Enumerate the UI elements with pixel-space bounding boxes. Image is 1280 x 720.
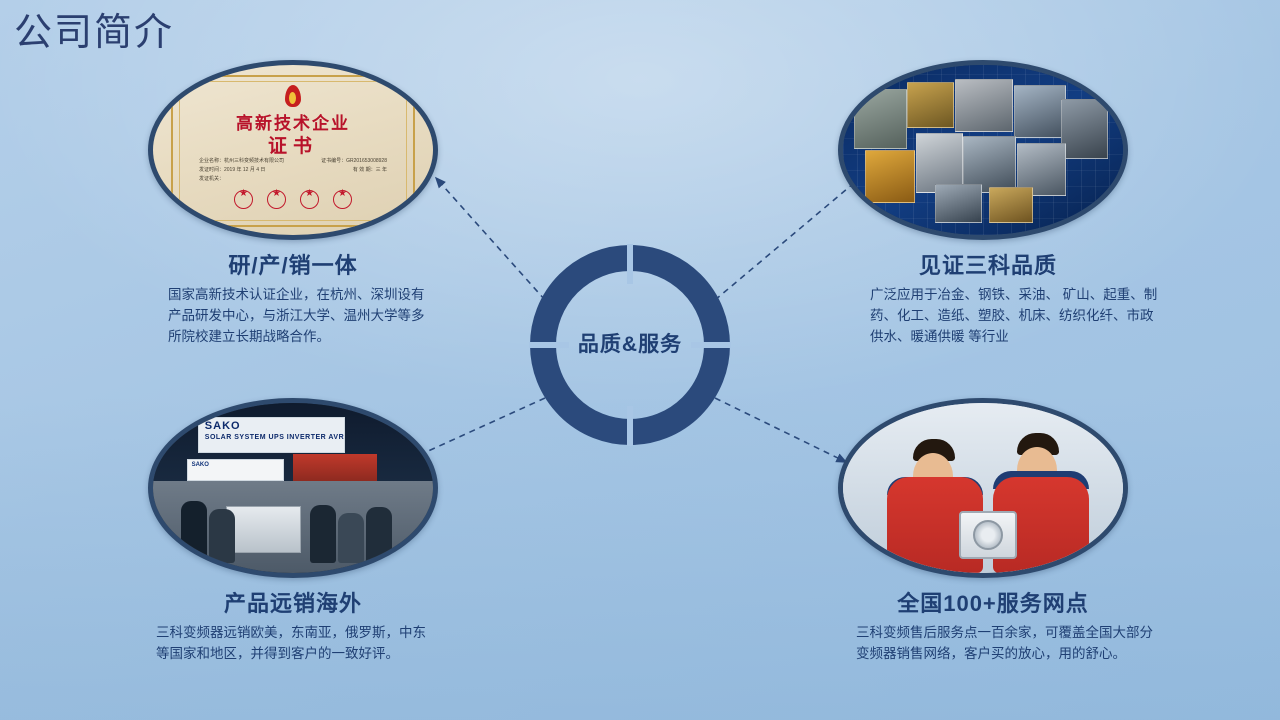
node-bottom-left-desc: 三科变频器远销欧美，东南亚，俄罗斯，中东等国家和地区，并得到客户的一致好评。 [150, 622, 438, 664]
certificate-title-line2: 证书 [153, 131, 433, 158]
node-top-right[interactable]: 见证三科品质 广泛应用于冶金、钢铁、采油、 矿山、起重、制药、化工、造纸、塑胶、… [838, 60, 1138, 347]
seal-icon [300, 190, 319, 209]
booth-banner-secondary-text: SAKO [192, 462, 209, 468]
montage-tile [955, 79, 1013, 132]
booth-banner-line1: SAKO [205, 420, 241, 432]
booth-counter [226, 506, 301, 552]
certificate-field-value-1: 有 效 期：三 年 [353, 166, 387, 175]
flame-icon [285, 85, 301, 107]
visitor-figure [366, 507, 392, 563]
booth-red-panel [293, 454, 377, 481]
seal-icon [333, 190, 352, 209]
montage-tile [989, 187, 1033, 223]
montage-tile [1014, 85, 1066, 138]
certificate-fields: 企业名称：杭州三科变频技术有限公司 证书编号：GR201653008928 发证… [199, 157, 387, 184]
certificate-field-label-0: 企业名称：杭州三科变频技术有限公司 [199, 157, 284, 166]
inverter-device [959, 511, 1017, 559]
certificate-field-value-0: 证书编号：GR201653008928 [321, 157, 387, 166]
certificate-field-label-2: 发证机关： [199, 175, 224, 184]
node-bottom-left-image: SAKO SOLAR SYSTEM UPS INVERTER AVR SAKO [148, 398, 438, 578]
montage-tile [1061, 99, 1108, 159]
visitor-figure [338, 513, 364, 563]
booth-banner-line2: SOLAR SYSTEM UPS INVERTER AVR [205, 434, 344, 441]
montage-tile [935, 184, 982, 223]
visitor-figure [310, 505, 336, 563]
visitor-figure [209, 509, 235, 563]
seal-icon [234, 190, 253, 209]
node-top-right-title: 见证三科品质 [838, 248, 1138, 280]
montage-tile [865, 150, 915, 203]
node-bottom-left-title: 产品远销海外 [148, 586, 438, 618]
node-bottom-right[interactable]: 全国100+服务网点 三科变频售后服务点一百余家，可覆盖全国大部分变频器销售网络… [838, 398, 1148, 664]
node-top-right-image [838, 60, 1128, 240]
node-bottom-right-title: 全国100+服务网点 [838, 586, 1148, 618]
seal-icon [267, 190, 286, 209]
visitor-figure [181, 501, 207, 563]
node-bottom-right-image [838, 398, 1128, 578]
center-donut: 品质&服务 [525, 240, 735, 450]
node-top-left[interactable]: 高新技术企业 证书 企业名称：杭州三科变频技术有限公司 证书编号：GR20165… [148, 60, 438, 347]
node-bottom-right-desc: 三科变频售后服务点一百余家，可覆盖全国大部分变频器销售网络，客户买的放心，用的舒… [844, 622, 1156, 664]
node-top-left-image: 高新技术企业 证书 企业名称：杭州三科变频技术有限公司 证书编号：GR20165… [148, 60, 438, 240]
booth-banner-secondary: SAKO [187, 459, 284, 481]
montage-tile [854, 89, 906, 149]
node-top-left-desc: 国家高新技术认证企业，在杭州、深圳设有产品研发中心，与浙江大学、温州大学等多所院… [162, 284, 430, 347]
expo-booth-photo: SAKO SOLAR SYSTEM UPS INVERTER AVR SAKO [153, 403, 433, 573]
node-top-right-desc: 广泛应用于冶金、钢铁、采油、 矿山、起重、制药、化工、造纸、塑胶、机床、纺织化纤… [858, 284, 1160, 347]
industry-photo-montage [843, 65, 1123, 235]
montage-tile [907, 82, 954, 128]
page-title: 公司简介 [14, 10, 174, 56]
certificate-field-label-1: 发证时间：2019 年 12 月 4 日 [199, 166, 265, 175]
service-technicians-photo [843, 403, 1123, 573]
center-label: 品质&服务 [525, 328, 735, 358]
node-bottom-left[interactable]: SAKO SOLAR SYSTEM UPS INVERTER AVR SAKO … [148, 398, 438, 664]
booth-banner: SAKO SOLAR SYSTEM UPS INVERTER AVR [198, 417, 346, 453]
certificate-seals [153, 190, 433, 209]
node-top-left-title: 研/产/销一体 [148, 248, 438, 280]
certificate-photo: 高新技术企业 证书 企业名称：杭州三科变频技术有限公司 证书编号：GR20165… [153, 65, 433, 235]
slide-canvas: 公司简介 品质&服务 [0, 0, 1280, 720]
